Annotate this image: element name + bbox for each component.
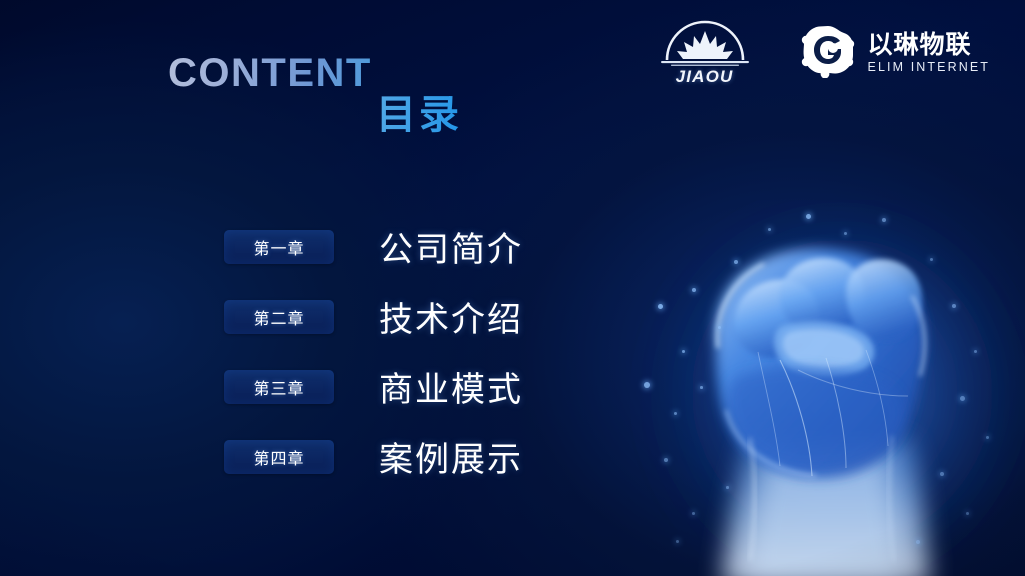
chapter-badge-label-4: 第四章 (253, 445, 304, 469)
logo-jiaou-wordmark: JIAOU (676, 68, 734, 85)
page-title: CONTENT 目录 (168, 52, 468, 137)
chapter-badge-1[interactable]: 第一章 (224, 230, 334, 264)
node-g-icon (799, 22, 857, 83)
chapter-list: 第一章 公司简介 第二章 技术介绍 第三章 商业模式 第四章 案例展示 (224, 222, 523, 481)
chapter-title-1: 公司简介 (379, 222, 523, 271)
logo-elim-english: ELIM INTERNET (868, 61, 990, 74)
logo-elim[interactable]: 以琳物联 ELIM INTERNET (799, 22, 990, 83)
chapter-badge-2[interactable]: 第二章 (224, 300, 334, 334)
page-title-english: CONTENT (168, 52, 468, 94)
chapter-title-3: 商业模式 (379, 362, 523, 411)
chapter-badge-label-1: 第一章 (253, 235, 304, 259)
logo-jiaou[interactable]: JIAOU (657, 20, 753, 85)
chapter-badge-label-3: 第三章 (253, 375, 304, 399)
header-logos: JIAOU 以琳物联 ELIM INTERNET (657, 20, 990, 85)
presentation-slide: JIAOU 以琳物联 ELIM INTERNET (0, 0, 1025, 576)
chapter-item-1[interactable]: 第一章 公司简介 (224, 222, 523, 271)
page-title-chinese: 目录 (168, 94, 468, 137)
chapter-item-4[interactable]: 第四章 案例展示 (224, 432, 523, 481)
logo-elim-chinese: 以琳物联 (868, 32, 990, 57)
chapter-title-4: 案例展示 (379, 432, 523, 481)
chapter-item-3[interactable]: 第三章 商业模式 (224, 362, 523, 411)
chapter-badge-4[interactable]: 第四章 (224, 440, 334, 474)
chapter-badge-3[interactable]: 第三章 (224, 370, 334, 404)
chapter-title-2: 技术介绍 (379, 292, 523, 341)
arch-sunrise-icon (657, 20, 753, 66)
chapter-badge-label-2: 第二章 (253, 305, 304, 329)
chapter-item-2[interactable]: 第二章 技术介绍 (224, 292, 523, 341)
